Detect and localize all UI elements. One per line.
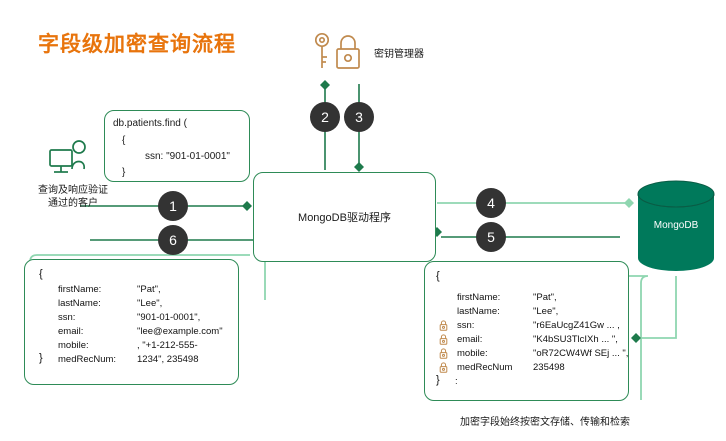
- query-code-box: db.patients.find ( { ssn: "901-01-0001" …: [104, 110, 250, 182]
- key-manager-icon-group: [310, 30, 370, 76]
- database-label: MongoDB: [634, 220, 718, 231]
- cipher-key-lastname: lastName:: [457, 306, 500, 317]
- key-icon: [316, 34, 328, 68]
- query-line-3: ssn: "901-01-0001": [145, 151, 230, 162]
- lock-icon-mobile: [439, 348, 448, 359]
- cipher-close-brace: }: [436, 374, 440, 386]
- plain-val-medrecnum: 1234", 235498: [137, 354, 199, 365]
- plain-val-email: "lee@example.com": [137, 326, 223, 337]
- lock-icon-email: [439, 334, 448, 345]
- cipher-key-mobile: mobile:: [457, 348, 488, 359]
- plain-val-mobile: , "+1-212-555-: [137, 340, 198, 351]
- cipher-val-lastname: "Lee",: [533, 306, 558, 317]
- encryption-caption: 加密字段始终按密文存储、传输和检索: [420, 413, 670, 428]
- client-label-line-1: 查询及响应验证: [18, 184, 128, 197]
- key-manager-label: 密钥管理器: [374, 45, 424, 60]
- plaintext-kv-list: { } firstName: "Pat", lastName: "Lee", s…: [25, 260, 238, 384]
- query-line-1: db.patients.find (: [113, 118, 187, 129]
- cipher-val-medrecnum: 235498: [533, 362, 565, 373]
- diagram-canvas: .ln-dark { stroke:#1E7A4C; stroke-width:…: [0, 0, 726, 441]
- plain-val-firstname: "Pat",: [137, 284, 161, 295]
- plain-key-lastname: lastName:: [58, 298, 101, 309]
- step-badge-2[interactable]: 2: [310, 102, 340, 132]
- plain-key-email: email:: [58, 326, 83, 337]
- cipher-key-email: email:: [457, 334, 482, 345]
- arrowhead-step-1: [242, 201, 252, 211]
- client-icon: [48, 139, 94, 179]
- step-badge-1[interactable]: 1: [158, 191, 188, 221]
- plain-close-brace: }: [39, 352, 43, 364]
- connector-db-to-cipher-doc: [641, 276, 676, 338]
- query-line-4: }: [122, 167, 125, 178]
- cipher-key-medrecnum: medRecNum: [457, 362, 512, 373]
- arrowhead-db-cipher: [631, 333, 641, 343]
- plain-open-brace: {: [39, 268, 43, 280]
- mongodb-driver-box: MongoDB驱动程序: [253, 172, 436, 262]
- cipher-key-ssn: ssn:: [457, 320, 474, 331]
- step-badge-5[interactable]: 5: [476, 222, 506, 252]
- client-label-line-2: 通过的客户: [18, 197, 128, 210]
- step-badge-4[interactable]: 4: [476, 188, 506, 218]
- mongodb-driver-label: MongoDB驱动程序: [298, 209, 391, 225]
- plaintext-document-box: { } firstName: "Pat", lastName: "Lee", s…: [24, 259, 239, 385]
- lock-icon-ssn: [439, 320, 448, 331]
- cipher-val-ssn: "r6EaUcgZ41Gw ... ,: [533, 320, 620, 331]
- page-title: 字段级加密查询流程: [38, 28, 236, 58]
- cipher-val-mobile: "oR72CW4Wf SEj ... ",: [533, 348, 628, 359]
- query-line-2: {: [122, 135, 125, 146]
- lock-icon-medrecnum: [439, 362, 448, 373]
- ciphertext-document-box: { } : firstName: "Pat", lastName: "Lee",…: [424, 261, 629, 401]
- plain-val-ssn: "901-01-0001",: [137, 312, 200, 323]
- plain-key-ssn: ssn:: [58, 312, 75, 323]
- cipher-val-email: "K4bSU3TlcIXh ... ",: [533, 334, 618, 345]
- cipher-key-firstname: firstName:: [457, 292, 500, 303]
- client-label: 查询及响应验证 通过的客户: [18, 184, 128, 210]
- cipher-trailing-colon: :: [455, 376, 458, 387]
- cipher-open-brace: {: [436, 270, 440, 282]
- padlock-icon: [337, 36, 359, 68]
- step-badge-6[interactable]: 6: [158, 225, 188, 255]
- plain-key-mobile: mobile:: [58, 340, 89, 351]
- plain-key-medrecnum: medRecNum:: [58, 354, 116, 365]
- plain-val-lastname: "Lee",: [137, 298, 162, 309]
- cipher-val-firstname: "Pat",: [533, 292, 557, 303]
- plain-key-firstname: firstName:: [58, 284, 101, 295]
- arrowhead-step-3: [354, 162, 364, 172]
- step-badge-3[interactable]: 3: [344, 102, 374, 132]
- ciphertext-kv-list: { } : firstName: "Pat", lastName: "Lee",…: [425, 262, 628, 400]
- arrowhead-step-4: [624, 198, 634, 208]
- arrowhead-step-2: [320, 80, 330, 90]
